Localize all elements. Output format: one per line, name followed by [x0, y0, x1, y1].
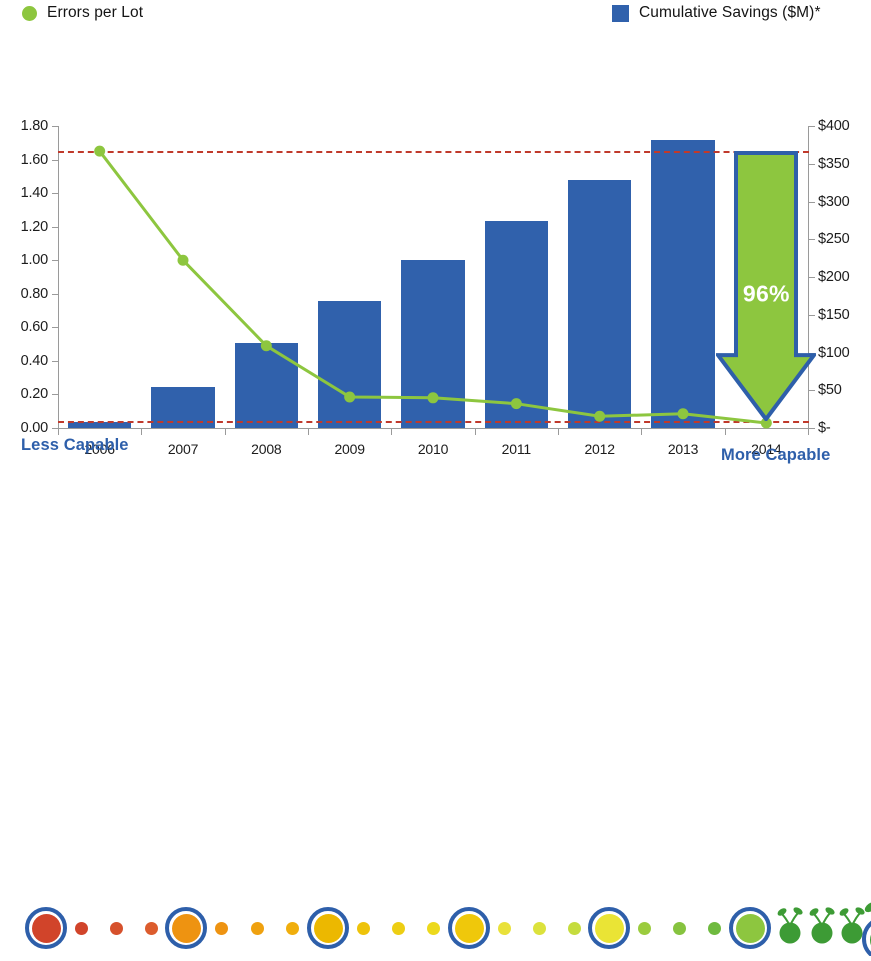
capability-connector-dot [392, 922, 405, 935]
reference-line-lower [58, 421, 809, 423]
capability-connector-dot [498, 922, 511, 935]
y-axis-left-tick [52, 294, 58, 295]
y-axis-left-tick-label: 0.60 [4, 319, 48, 335]
legend-entry-cumulative-savings: Cumulative Savings ($M)* [612, 4, 821, 22]
legend-entry-errors-per-lot: Errors per Lot [22, 4, 143, 22]
y-axis-left-tick-label: 0.40 [4, 353, 48, 369]
capability-connector-dot [251, 922, 264, 935]
y-axis-left-tick-label: 1.80 [4, 118, 48, 134]
y-axis-left-tick [52, 126, 58, 127]
legend-label-errors-per-lot: Errors per Lot [47, 4, 143, 22]
y-axis-left-tick-label: 1.00 [4, 252, 48, 268]
capability-connector-dot [215, 922, 228, 935]
y-axis-left-tick [52, 394, 58, 395]
capability-connector-dot [427, 922, 440, 935]
y-axis-right-tick [809, 428, 815, 429]
capability-connector-dot [75, 922, 88, 935]
capability-milestone-core-5 [595, 914, 624, 943]
blue-square-icon [612, 5, 629, 22]
scale-label-less-capable: Less Capable [21, 436, 129, 455]
capability-milestone-core-6 [736, 914, 765, 943]
capability-milestone-core-3 [314, 914, 343, 943]
capability-milestone-core-4 [455, 914, 484, 943]
capability-connector-dot [673, 922, 686, 935]
capability-connector-dot [357, 922, 370, 935]
y-axis-left-line [58, 126, 59, 429]
bar-2012 [568, 180, 631, 428]
y-axis-left-tick [52, 327, 58, 328]
capability-connector-dot [708, 922, 721, 935]
capability-sprout-icon-2 [806, 900, 838, 949]
y-axis-right-tick-label: $200 [818, 269, 871, 285]
capability-milestone-core-2 [172, 914, 201, 943]
y-axis-right-tick-label: $350 [818, 156, 871, 172]
reference-line-upper [58, 151, 809, 153]
capability-connector-dot [286, 922, 299, 935]
chart-plot-area: 0.000.200.400.600.801.001.201.401.601.80… [0, 55, 871, 395]
reduction-arrow-annotation: 96% [716, 151, 816, 421]
y-axis-right-tick-label: $300 [818, 194, 871, 210]
capability-connector-dot [638, 922, 651, 935]
chart-legend: Errors per Lot Cumulative Savings ($M)* [0, 0, 871, 34]
capability-connector-dot [568, 922, 581, 935]
bar-2010 [401, 260, 464, 428]
y-axis-left-tick-label: 1.40 [4, 185, 48, 201]
green-circle-icon [22, 6, 37, 21]
line-marker-2007 [178, 255, 189, 266]
capability-connector-dot [533, 922, 546, 935]
capability-scale: Less Capable More Capable [0, 432, 871, 527]
y-axis-left-tick [52, 260, 58, 261]
capability-sprout-icon-large [860, 894, 871, 961]
capability-connector-dot [145, 922, 158, 935]
x-axis-line [58, 428, 809, 429]
y-axis-left-tick [52, 193, 58, 194]
legend-label-cumulative-savings: Cumulative Savings ($M)* [639, 4, 821, 22]
y-axis-right-tick-label: $400 [818, 118, 871, 134]
y-axis-left-tick-label: 1.20 [4, 219, 48, 235]
y-axis-left-tick-label: 0.20 [4, 386, 48, 402]
capability-milestone-core-1 [32, 914, 61, 943]
y-axis-right-tick-label: $250 [818, 231, 871, 247]
arrow-percentage-label: 96% [716, 281, 816, 308]
bar-2011 [485, 221, 548, 428]
y-axis-right-tick-label: $50 [818, 382, 871, 398]
capability-connector-dot [110, 922, 123, 935]
y-axis-right-tick-label: $150 [818, 307, 871, 323]
y-axis-right-tick [809, 126, 815, 127]
y-axis-left-tick-label: 0.80 [4, 286, 48, 302]
y-axis-right-tick-label: $100 [818, 345, 871, 361]
y-axis-left-tick [52, 160, 58, 161]
y-axis-left-tick-label: 1.60 [4, 152, 48, 168]
bar-2009 [318, 301, 381, 428]
bar-2008 [235, 343, 298, 428]
y-axis-left-tick [52, 227, 58, 228]
bar-2013 [651, 140, 714, 428]
y-axis-left-tick [52, 361, 58, 362]
capability-sprout-icon-1 [774, 900, 806, 949]
scale-label-more-capable: More Capable [721, 446, 830, 465]
